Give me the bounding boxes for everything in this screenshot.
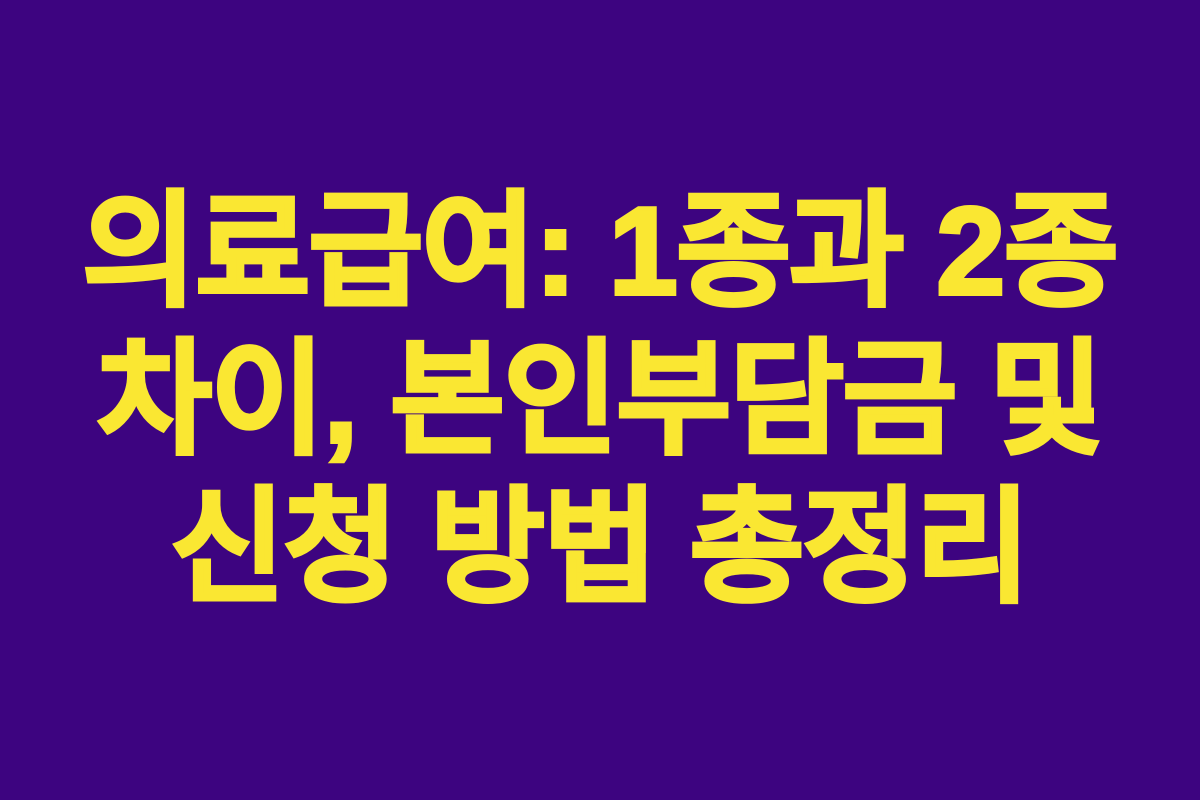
title-line-1: 의료급여: 1종과 2종 [83,178,1118,326]
title-line-3: 신청 방법 총정리 [171,474,1029,622]
page-title: 의료급여: 1종과 2종 차이, 본인부담금 및 신청 방법 총정리 [35,178,1165,622]
title-line-2: 차이, 본인부담금 및 [98,326,1103,474]
thumbnail-canvas: 의료급여: 1종과 2종 차이, 본인부담금 및 신청 방법 총정리 [0,0,1200,800]
